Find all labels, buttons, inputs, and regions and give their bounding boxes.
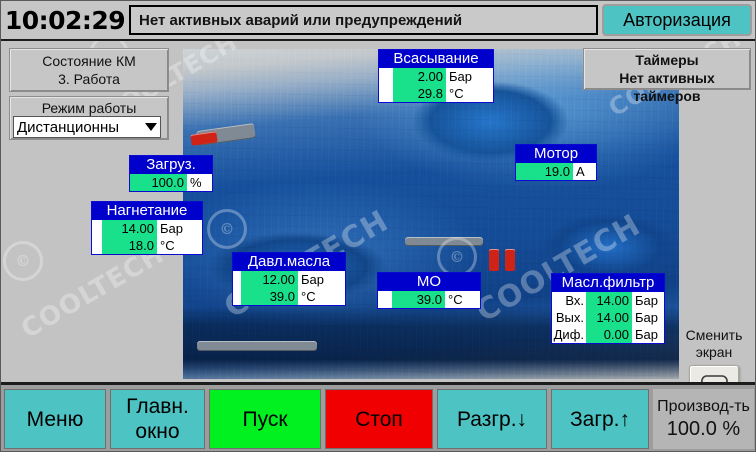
tag-oil-pressure: Давл.масла 12.00 Бар 39.0 °C — [232, 252, 346, 306]
tag-oil-filter-unit-0: Бар — [632, 292, 664, 309]
oil-line-pipe — [405, 237, 483, 246]
tag-row: 12.00 Бар — [233, 271, 345, 288]
compressor-state-panel: Состояние КМ 3. Работа — [9, 48, 169, 92]
tag-mo-unit-0: °C — [445, 291, 480, 308]
compressor-state-title: Состояние КМ — [10, 49, 168, 70]
command-button-bar: Меню Главн. окно Пуск Стоп Разгр.↓ Загр.… — [1, 382, 756, 452]
tag-oil-filter-unit-2: Бар — [632, 326, 664, 343]
tag-load-unit-0: % — [187, 174, 212, 191]
load-button[interactable]: Загр.↑ — [551, 389, 649, 449]
main-window-button[interactable]: Главн. окно — [110, 389, 205, 449]
chevron-down-icon[interactable] — [145, 123, 157, 131]
tag-row: 19.0 A — [516, 163, 596, 180]
alarm-status-bar: Нет активных аварий или предупреждений — [129, 5, 598, 35]
header-bar: 10:02:29 Нет активных аварий или предупр… — [1, 1, 756, 41]
tag-suction-unit-0: Бар — [446, 68, 493, 85]
tag-load-title: Загруз. — [130, 156, 212, 174]
service-valve-a-icon — [489, 249, 499, 271]
capacity-value: 100.0 % — [667, 417, 740, 441]
change-screen-button[interactable] — [689, 365, 739, 382]
tag-load-value-0: 100.0 — [130, 174, 187, 191]
tag-oil-pressure-value-0: 12.00 — [241, 271, 298, 288]
menu-button[interactable]: Меню — [4, 389, 106, 449]
process-stage: COOLTECH COOLTECH COOLTECH COOLTECH COOL… — [1, 41, 756, 382]
tag-suction-unit-1: °C — [446, 85, 493, 102]
tag-row: 39.0 °C — [233, 288, 345, 305]
timers-value: Нет активных таймеров — [584, 69, 750, 105]
tag-oil-filter-value-1: 14.00 — [586, 309, 632, 326]
tag-row: 18.0 °C — [92, 237, 202, 254]
tag-oil-filter-label-1: Вых. — [552, 309, 586, 326]
start-button[interactable]: Пуск — [209, 389, 321, 449]
tag-discharge: Нагнетание 14.00 Бар 18.0 °C — [91, 201, 203, 255]
tag-oil-filter: Масл.фильтр Вх. 14.00 Бар Вых. 14.00 Бар… — [551, 273, 665, 344]
tag-motor-title: Мотор — [516, 145, 596, 163]
stop-button[interactable]: Стоп — [325, 389, 433, 449]
compressor-state-value: 3. Работа — [10, 70, 168, 88]
tag-motor-value-0: 19.0 — [516, 163, 573, 180]
tag-oil-pressure-unit-1: °C — [298, 288, 345, 305]
tag-row: 14.00 Бар — [92, 220, 202, 237]
capacity-readout: Производ-ть 100.0 % — [653, 389, 754, 449]
tag-load: Загруз. 100.0 % — [129, 155, 213, 192]
change-screen-group: Сменить экран — [673, 327, 755, 382]
tag-row: 2.00 Бар — [379, 68, 493, 85]
tag-oil-filter-value-2: 0.00 — [586, 326, 632, 343]
tag-suction-value-0: 2.00 — [393, 68, 446, 85]
hmi-screen: 10:02:29 Нет активных аварий или предупр… — [0, 0, 756, 452]
loop-arrow-icon — [699, 373, 729, 382]
tag-suction: Всасывание 2.00 Бар 29.8 °C — [378, 49, 494, 103]
unload-button[interactable]: Разгр.↓ — [437, 389, 547, 449]
tag-discharge-value-1: 18.0 — [102, 237, 157, 254]
change-screen-label-line1: Сменить — [673, 327, 755, 344]
tag-row: 29.8 °C — [379, 85, 493, 102]
operating-mode-title: Режим работы — [10, 97, 168, 117]
tag-oil-pressure-title: Давл.масла — [233, 253, 345, 271]
service-valve-b-icon — [505, 249, 515, 271]
tag-mo: МО 39.0 °C — [377, 272, 481, 309]
tag-motor: Мотор 19.0 A — [515, 144, 597, 181]
tag-suction-title: Всасывание — [379, 50, 493, 68]
tag-row: 100.0 % — [130, 174, 212, 191]
tag-oil-filter-unit-1: Бар — [632, 309, 664, 326]
base-pipe — [197, 341, 317, 351]
timers-panel: Таймеры Нет активных таймеров — [583, 48, 751, 90]
tag-mo-value-0: 39.0 — [392, 291, 445, 308]
tag-row: 39.0 °C — [378, 291, 480, 308]
watermark-copyright-icon: © — [3, 241, 43, 281]
tag-oil-filter-label-2: Диф. — [552, 326, 586, 343]
tag-mo-title: МО — [378, 273, 480, 291]
capacity-label: Производ-ть — [657, 397, 750, 417]
tag-oil-filter-value-0: 14.00 — [586, 292, 632, 309]
tag-discharge-unit-0: Бар — [157, 220, 202, 237]
tag-discharge-unit-1: °C — [157, 237, 202, 254]
operating-mode-value: Дистанционны — [17, 119, 119, 136]
authorization-button[interactable]: Авторизация — [602, 4, 752, 36]
clock-display: 10:02:29 — [1, 6, 129, 35]
tag-discharge-value-0: 14.00 — [102, 220, 157, 237]
change-screen-label-line2: экран — [673, 344, 755, 361]
tag-row: Диф. 0.00 Бар — [552, 326, 664, 343]
tag-row: Вх. 14.00 Бар — [552, 292, 664, 309]
tag-motor-unit-0: A — [573, 163, 596, 180]
tag-oil-pressure-unit-0: Бар — [298, 271, 345, 288]
tag-oil-filter-label-0: Вх. — [552, 292, 586, 309]
tag-suction-value-1: 29.8 — [393, 85, 446, 102]
timers-title: Таймеры — [584, 49, 750, 69]
watermark-copyright-glyph: © — [16, 252, 31, 270]
tag-oil-filter-title: Масл.фильтр — [552, 274, 664, 292]
operating-mode-select[interactable]: Дистанционны — [13, 116, 161, 138]
tag-discharge-title: Нагнетание — [92, 202, 202, 220]
tag-row: Вых. 14.00 Бар — [552, 309, 664, 326]
tag-oil-pressure-value-1: 39.0 — [241, 288, 298, 305]
